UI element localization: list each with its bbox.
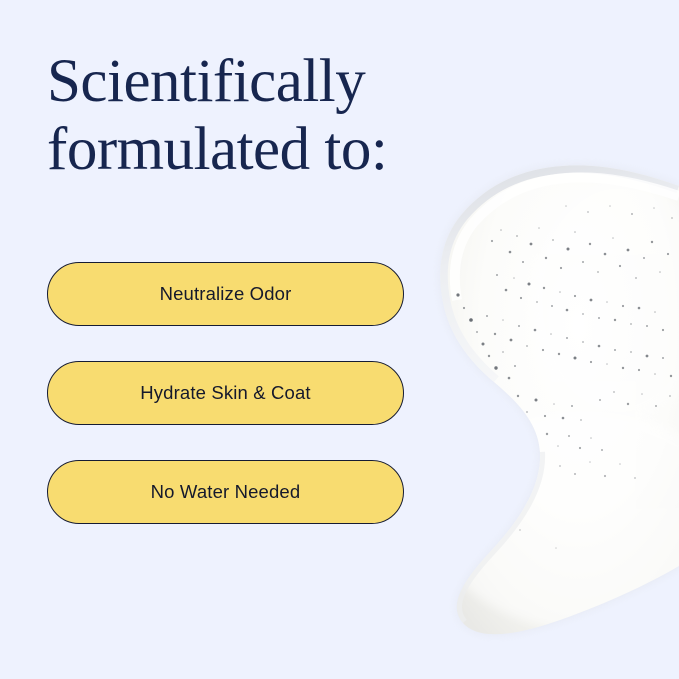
benefit-pill-hydrate-skin-coat[interactable]: Hydrate Skin & Coat [47, 361, 404, 425]
benefit-pill-label: No Water Needed [151, 481, 301, 503]
benefit-pill-list: Neutralize Odor Hydrate Skin & Coat No W… [47, 262, 404, 524]
benefit-pill-neutralize-odor[interactable]: Neutralize Odor [47, 262, 404, 326]
benefit-pill-label: Neutralize Odor [160, 283, 292, 305]
page-title: Scientifically formulated to: [47, 48, 477, 184]
foam-bubble-speckles [456, 205, 672, 549]
foam-blob-shading [435, 165, 679, 630]
foam-blob-body [440, 165, 679, 634]
benefit-pill-label: Hydrate Skin & Coat [140, 382, 310, 404]
foam-blob-halo [440, 165, 679, 634]
marketing-feature-panel: Scientifically formulated to: Neutralize… [0, 0, 679, 679]
benefit-pill-no-water-needed[interactable]: No Water Needed [47, 460, 404, 524]
